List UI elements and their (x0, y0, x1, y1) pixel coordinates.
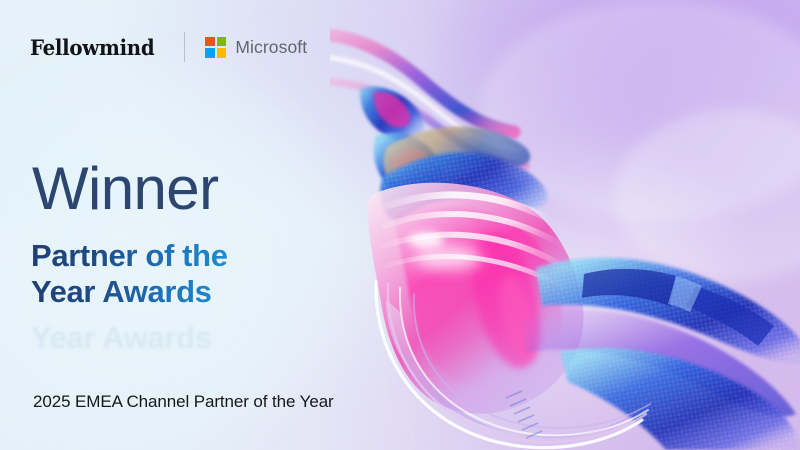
award-title-watermark: Year Awards (31, 320, 212, 356)
award-title-line-1: Partner of the (31, 238, 228, 273)
microsoft-logo-lockup: Microsoft (205, 37, 307, 58)
microsoft-square-yellow (217, 48, 227, 58)
fellowmind-logo: Fellowmind (30, 37, 154, 58)
background-bloom-bottom-right (430, 200, 800, 450)
award-title-line-2: Year Awards (31, 274, 228, 310)
microsoft-square-green (217, 37, 227, 47)
logo-divider (184, 32, 185, 62)
microsoft-squares-icon (205, 37, 226, 58)
award-title: Partner of the Year Awards (31, 238, 228, 311)
winner-headline: Winner (32, 159, 218, 219)
microsoft-wordmark: Microsoft (235, 37, 307, 58)
award-announcement-slide: Fellowmind Microsoft Winner Partner of t… (0, 0, 800, 450)
background-bloom-top-right (430, 0, 800, 300)
logo-lockup: Fellowmind Microsoft (30, 30, 307, 64)
award-caption: 2025 EMEA Channel Partner of the Year (33, 392, 334, 412)
microsoft-square-blue (205, 48, 215, 58)
background-bloom-center (440, 140, 760, 440)
abstract-ribbon-graphic (330, 0, 800, 450)
microsoft-square-red (205, 37, 215, 47)
